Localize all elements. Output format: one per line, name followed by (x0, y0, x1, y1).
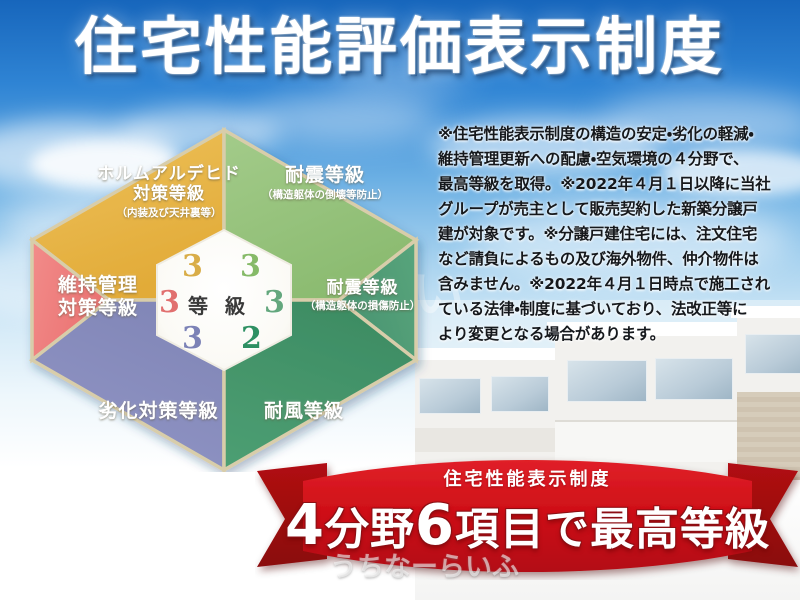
note-line: ている法律・制度に基づいており、法改正等に (438, 297, 794, 322)
house-left-shadow (415, 428, 555, 452)
grade-degradation: 3 (182, 324, 203, 354)
grade-wind: 2 (241, 324, 262, 354)
ribbon-number-fields: 4 (285, 493, 325, 558)
disclaimer-note: ※住宅性能表示制度の構造の安定・劣化の軽減・ 維持管理更新への配慮・空気環境の４… (438, 122, 794, 347)
ribbon-word-items: 項目で最高等級 (455, 504, 770, 555)
center-label: 等 級 (154, 290, 284, 319)
performance-hexagon: ホルムアルデヒド 対策等級 （内装及び天井裏等） 耐震等級 （構造躯体の倒壊等防… (14, 112, 434, 472)
house-left-window (491, 376, 549, 412)
ribbon-number-items: 6 (415, 493, 455, 558)
ribbon-word-fields: 分野 (325, 504, 415, 555)
note-line: 最高等級を取得。※2022年４月１日以降に当社 (438, 172, 794, 197)
note-line: グループが売主として販売契約した新築分譲戸 (438, 197, 794, 222)
note-line: 建が対象です。※分譲戸建住宅には、注文住宅 (438, 222, 794, 247)
note-line: 含みません。※2022年４月１日時点で施工され (438, 272, 794, 297)
note-line: より変更となる場合があります。 (438, 322, 794, 347)
house-left-eave (415, 348, 563, 360)
grade-seismic-collapse: 3 (240, 252, 261, 282)
house-center-window (567, 360, 647, 402)
grade-formaldehyde: 3 (182, 252, 203, 282)
note-line: ※住宅性能表示制度の構造の安定・劣化の軽減・ (438, 122, 794, 147)
infographic-canvas: 住宅性能評価表示制度 すまい (0, 0, 800, 600)
house-center-window (655, 358, 733, 400)
note-line: 維持管理更新への配慮・空気環境の４分野で、 (438, 147, 794, 172)
page-title: 住宅性能評価表示制度 (0, 14, 800, 81)
ribbon-banner: 住宅性能表示制度 4分野6項目で最高等級 (255, 455, 800, 580)
ribbon-small-label: 住宅性能表示制度 (255, 465, 800, 491)
ribbon-big-label: 4分野6項目で最高等級 (255, 493, 800, 558)
note-line: など請負によるもの及び海外物件、仲介物件は (438, 247, 794, 272)
